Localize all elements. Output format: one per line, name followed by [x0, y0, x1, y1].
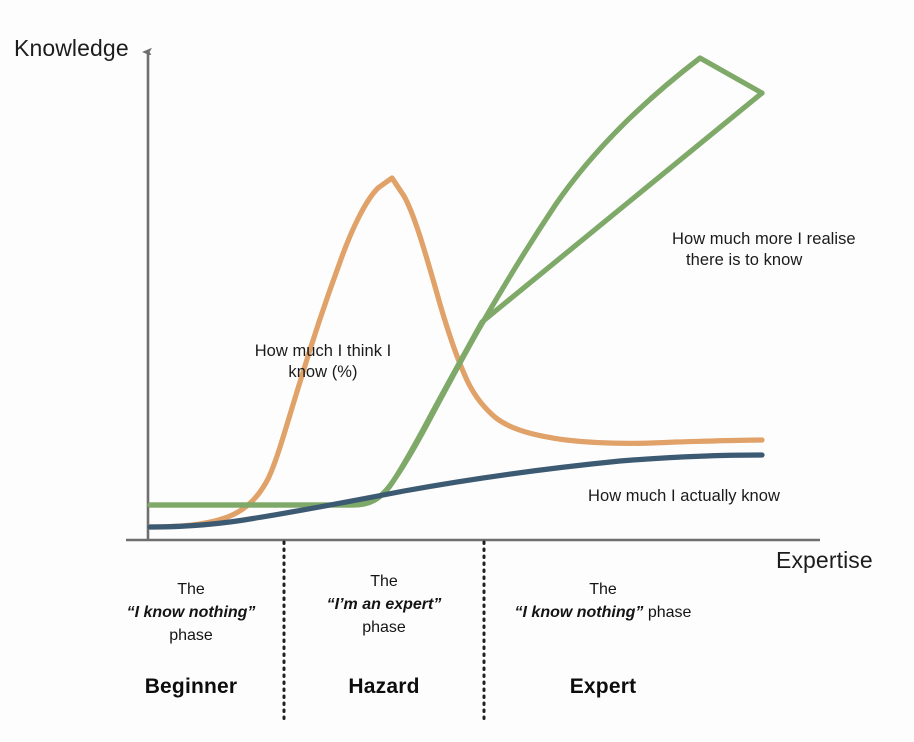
think-i-know-annotation-line1: How much I think I [228, 341, 418, 362]
phase-hazard-line1: The [298, 570, 470, 593]
x-axis-title: Expertise [776, 546, 873, 575]
phase-expert-line1: The [508, 578, 698, 601]
category-label-beginner: Beginner [104, 675, 278, 699]
chart-canvas: Knowledge Expertise How much I think I k… [0, 0, 914, 742]
phase-expert-line2: “I know nothing” phase [508, 601, 698, 624]
phase-hazard-line3: phase [298, 616, 470, 639]
phase-hazard-line2: “I’m an expert” [298, 593, 470, 616]
actually-know-annotation: How much I actually know [588, 486, 828, 507]
phase-hazard-quote: “I’m an expert” [327, 596, 442, 613]
phase-description-expert: The “I know nothing” phase [508, 578, 698, 624]
phase-beginner-suffix: phase [169, 627, 213, 644]
realise-more-annotation-line2: there is to know [686, 250, 910, 271]
phase-beginner-quote: “I know nothing” [127, 604, 256, 621]
phase-beginner-line1: The [104, 578, 278, 601]
category-label-hazard: Hazard [298, 675, 470, 699]
series-realise-more [150, 58, 762, 505]
phase-expert-quote: “I know nothing” [515, 604, 644, 621]
phase-description-hazard: The “I’m an expert” phase [298, 570, 470, 640]
realise-more-annotation-line1: How much more I realise [672, 229, 910, 250]
category-label-expert: Expert [508, 675, 698, 699]
phase-expert-suffix: phase [643, 604, 691, 621]
think-i-know-annotation-line2: know (%) [228, 362, 418, 383]
y-axis-title: Knowledge [14, 34, 129, 63]
phase-description-beginner: The “I know nothing” phase [104, 578, 278, 648]
phase-beginner-line2: “I know nothing” phase [104, 601, 278, 647]
